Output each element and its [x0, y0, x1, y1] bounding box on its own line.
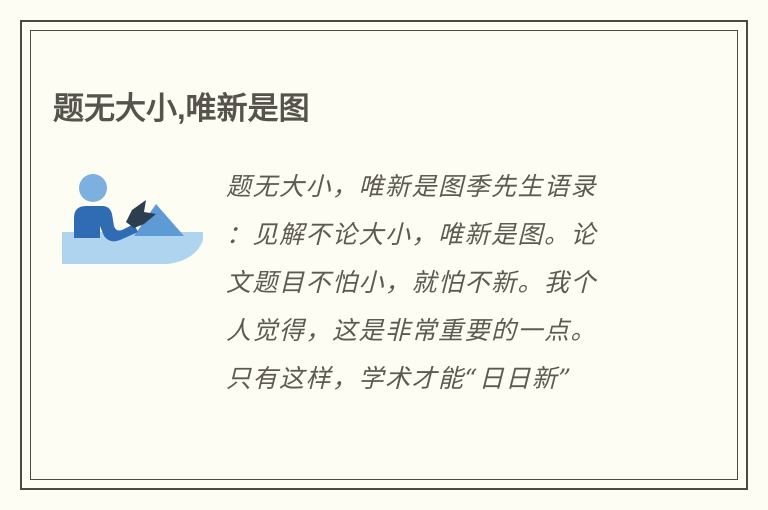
- body-line: ：见解不论大小，唯新是图。论: [226, 211, 646, 259]
- person-in-boat-illustration: [60, 170, 205, 270]
- body-line: 文题目不怕小，就怕不新。我个: [226, 259, 646, 307]
- body-line: 人觉得，这是非常重要的一点。: [226, 307, 646, 355]
- page-content: 题无大小,唯新是图 题无大小，唯新是图季先生语录 ：见解不论大小，唯新是图。论 …: [30, 30, 738, 480]
- article-body: 题无大小，唯新是图季先生语录 ：见解不论大小，唯新是图。论 文题目不怕小，就怕不…: [226, 163, 646, 403]
- document-page: 题无大小,唯新是图 题无大小，唯新是图季先生语录 ：见解不论大小，唯新是图。论 …: [0, 0, 768, 510]
- body-line: 题无大小，唯新是图季先生语录: [226, 163, 646, 211]
- person-head-shape: [79, 174, 107, 202]
- page-title: 题无大小,唯新是图: [53, 89, 310, 129]
- body-line: 只有这样，学术才能“日日新”: [226, 355, 646, 403]
